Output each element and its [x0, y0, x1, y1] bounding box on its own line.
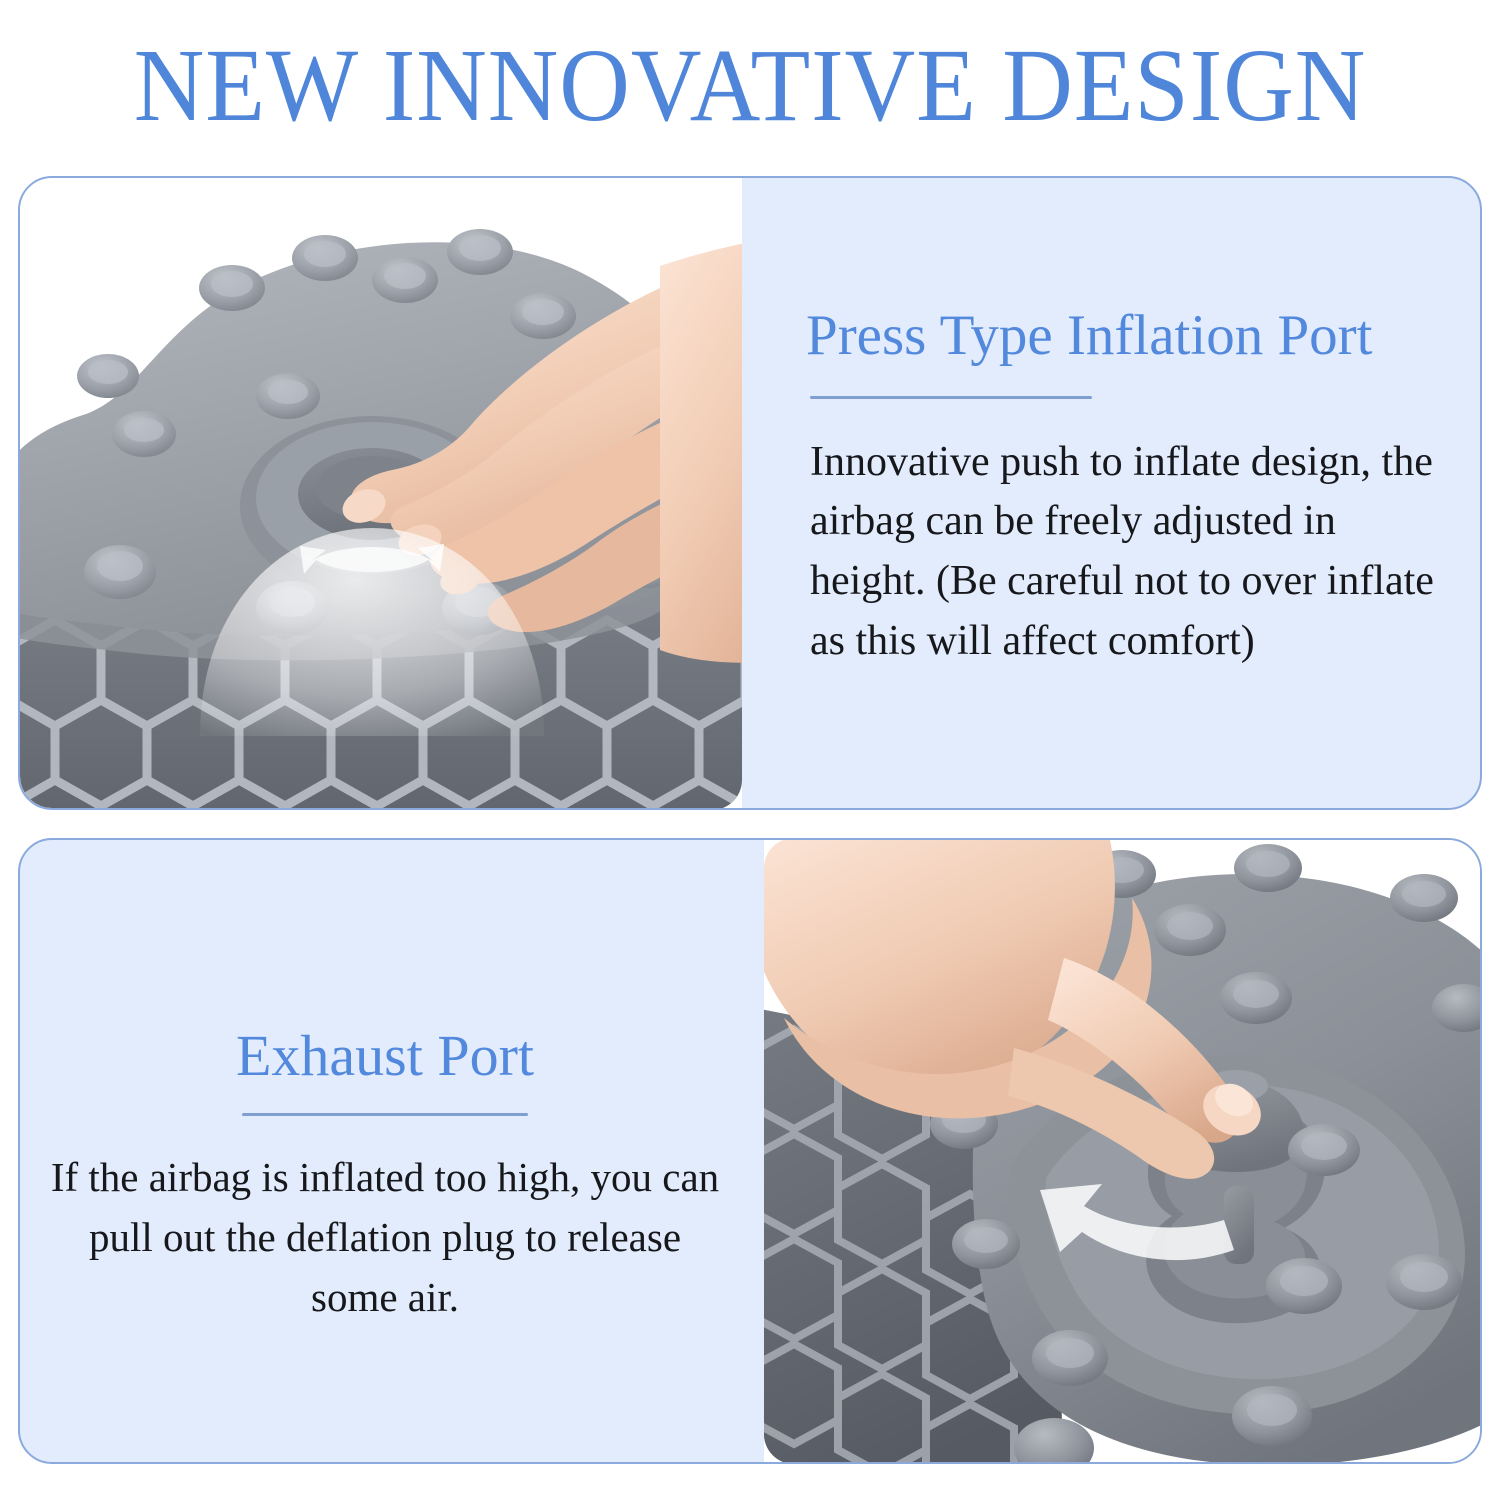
heading-divider: [242, 1113, 528, 1116]
infographic-page: NEW INNOVATIVE DESIGN: [0, 0, 1500, 1500]
feature-text-exhaust: Exhaust Port If the airbag is inflated t…: [20, 840, 760, 1462]
section-heading-inflation: Press Type Inflation Port: [806, 306, 1460, 366]
feature-panel-exhaust: Exhaust Port If the airbag is inflated t…: [18, 838, 1482, 1464]
section-body-inflation: Innovative push to inflate design, the a…: [806, 433, 1460, 672]
heading-divider: [810, 396, 1092, 399]
cushion-deflation-plug-photo: [764, 840, 1482, 1462]
section-body-exhaust: If the airbag is inflated too high, you …: [44, 1148, 726, 1328]
section-heading-exhaust: Exhaust Port: [44, 1026, 726, 1087]
page-title: NEW INNOVATIVE DESIGN: [45, 34, 1455, 138]
feature-panel-inflation: Press Type Inflation Port Innovative pus…: [18, 176, 1482, 810]
cushion-press-inflate-photo: [20, 178, 742, 808]
feature-text-inflation: Press Type Inflation Port Innovative pus…: [790, 178, 1482, 808]
press-inflate-illustration: [20, 178, 742, 808]
deflation-plug-illustration: [764, 840, 1482, 1462]
